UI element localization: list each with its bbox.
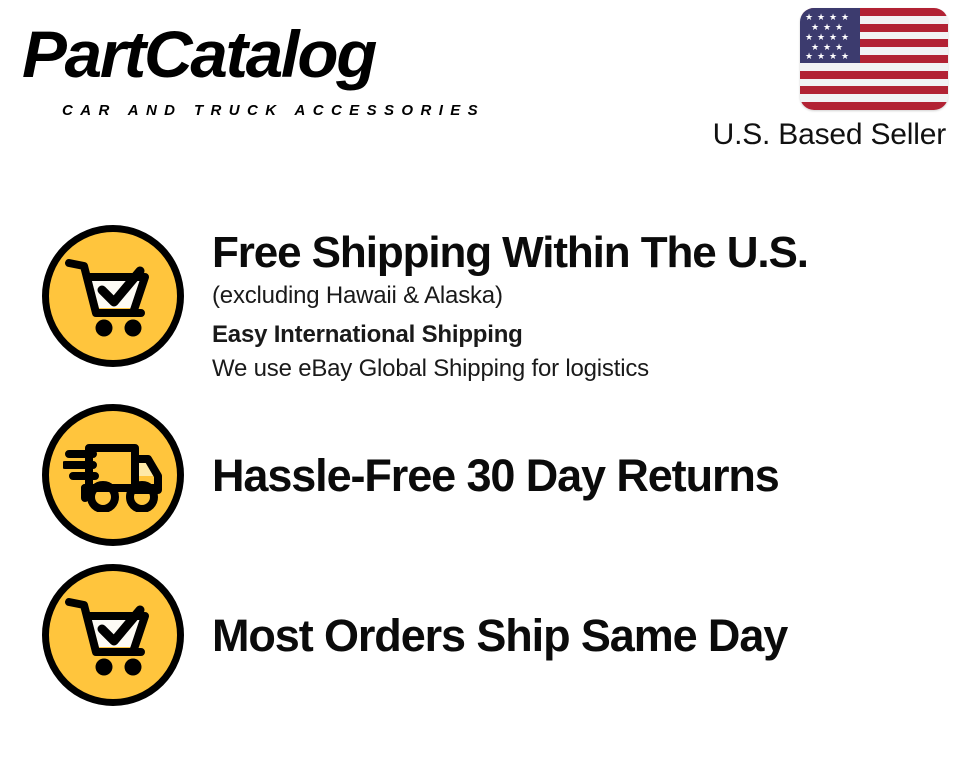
flag-canton: ★ ★ ★ ★ ★ ★ ★ ★ ★ ★ ★ ★ ★ ★ ★ ★ ★ ★ (800, 8, 860, 63)
seller-badge: ★ ★ ★ ★ ★ ★ ★ ★ ★ ★ ★ ★ ★ ★ ★ ★ ★ ★ U.S.… (688, 8, 948, 158)
feature-text: Free Shipping Within The U.S. (excluding… (212, 225, 960, 386)
flag-stripe (800, 86, 948, 94)
flag-star: ★ (805, 52, 813, 61)
flag-star: ★ (829, 13, 837, 22)
brand-logo[interactable]: PartCatalog CAR AND TRUCK ACCESSORIES (22, 18, 492, 113)
cart-check-glyph (65, 594, 161, 676)
flag-stripe (800, 63, 948, 71)
flag-stripe (800, 79, 948, 87)
flag-star: ★ (829, 52, 837, 61)
feature-subtext-bold: Easy International Shipping (212, 318, 960, 352)
shopping-cart-check-icon (42, 225, 184, 367)
flag-star: ★ (817, 13, 825, 22)
brand-tagline: CAR AND TRUCK ACCESSORIES (62, 102, 485, 120)
feature-heading: Most Orders Ship Same Day (212, 610, 960, 662)
feature-text: Hassle-Free 30 Day Returns (212, 448, 960, 502)
flag-star: ★ (841, 13, 849, 22)
delivery-truck-icon (42, 404, 184, 546)
flag-star: ★ (817, 52, 825, 61)
flag-star: ★ (841, 33, 849, 42)
flag-stripe (800, 71, 948, 79)
flag-star: ★ (805, 13, 813, 22)
feature-heading: Hassle-Free 30 Day Returns (212, 450, 960, 502)
feature-row: Free Shipping Within The U.S. (excluding… (0, 225, 960, 386)
flag-stripe (800, 94, 948, 102)
feature-text: Most Orders Ship Same Day (212, 608, 960, 662)
flag-stripe (800, 102, 948, 110)
flag-star: ★ (841, 52, 849, 61)
feature-subtext: We use eBay Global Shipping for logistic… (212, 352, 960, 386)
feature-list: Free Shipping Within The U.S. (excluding… (0, 225, 960, 724)
flag-star: ★ (805, 33, 813, 42)
us-flag-icon: ★ ★ ★ ★ ★ ★ ★ ★ ★ ★ ★ ★ ★ ★ ★ ★ ★ ★ (800, 8, 948, 110)
feature-row: Hassle-Free 30 Day Returns (0, 404, 960, 546)
shopping-cart-check-icon (42, 564, 184, 706)
brand-wordmark: PartCatalog (22, 18, 375, 90)
flag-star: ★ (829, 33, 837, 42)
page-header: PartCatalog CAR AND TRUCK ACCESSORIES (0, 0, 960, 170)
flag-star: ★ (817, 33, 825, 42)
truck-glyph (63, 438, 163, 512)
flag-star: ★ (823, 23, 831, 32)
seller-label: U.S. Based Seller (713, 118, 946, 152)
cart-check-glyph (65, 255, 161, 337)
flag-star: ★ (811, 23, 819, 32)
feature-row: Most Orders Ship Same Day (0, 564, 960, 706)
flag-star: ★ (835, 23, 843, 32)
feature-subtext: (excluding Hawaii & Alaska) (212, 279, 960, 313)
feature-heading: Free Shipping Within The U.S. (212, 227, 960, 279)
